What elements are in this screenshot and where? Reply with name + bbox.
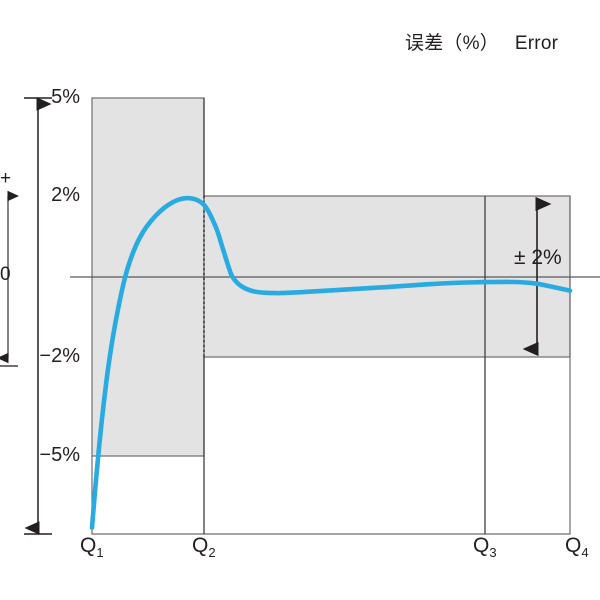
x-tick-label-q4: Q4 bbox=[565, 534, 589, 560]
y-tick-label-neg2: −2% bbox=[0, 345, 80, 368]
x-tick-q1-sub: 1 bbox=[96, 545, 103, 560]
x-tick-q1-base: Q bbox=[80, 534, 96, 557]
tolerance-label: ± 2% bbox=[514, 246, 562, 270]
y-tick-label-2: 2% bbox=[8, 184, 80, 207]
x-tick-label-q3: Q3 bbox=[473, 534, 497, 560]
chart-svg bbox=[0, 0, 600, 600]
x-tick-q4-sub: 4 bbox=[581, 545, 588, 560]
y-tick-label-neg5: −5% bbox=[0, 444, 80, 467]
x-tick-q2-sub: 2 bbox=[208, 545, 215, 560]
x-tick-label-q2: Q2 bbox=[192, 534, 216, 560]
x-tick-q3-sub: 3 bbox=[489, 545, 496, 560]
x-tick-q3-base: Q bbox=[473, 534, 489, 557]
chart-canvas: 误差（%）Error bbox=[0, 0, 600, 600]
x-tick-label-q1: Q1 bbox=[80, 534, 104, 560]
x-tick-q4-base: Q bbox=[565, 534, 581, 557]
x-tick-q2-base: Q bbox=[192, 534, 208, 557]
sign-plus: + bbox=[0, 168, 11, 190]
y-tick-label-5: 5% bbox=[8, 86, 80, 109]
sign-zero: 0 bbox=[0, 264, 11, 286]
